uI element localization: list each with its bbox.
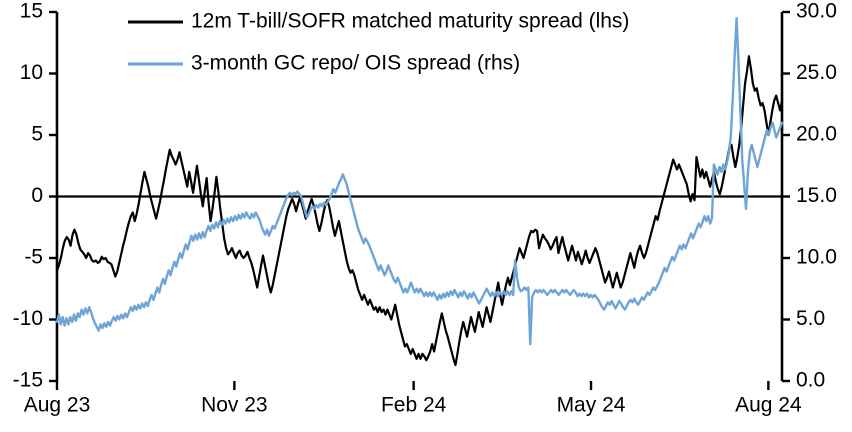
right-tick-label: 15.0 <box>796 184 837 207</box>
series-line-1 <box>57 56 782 365</box>
right-tick-label: 10.0 <box>796 246 837 269</box>
left-tick-label: -10 <box>13 307 43 330</box>
right-tick-label: 20.0 <box>796 123 837 146</box>
left-tick-label: -5 <box>24 246 43 269</box>
left-tick-label: -15 <box>13 369 43 392</box>
x-tick-label: Aug 24 <box>735 393 802 416</box>
left-tick-label: 0 <box>31 184 43 207</box>
right-tick-label: 30.0 <box>796 0 837 23</box>
right-tick-label: 5.0 <box>796 307 825 330</box>
x-tick-label: Nov 23 <box>201 393 268 416</box>
left-tick-label: 5 <box>31 123 43 146</box>
legend-label-2: 3-month GC repo/ OIS spread (rhs) <box>191 52 520 75</box>
x-tick-label: Feb 24 <box>381 393 447 416</box>
x-tick-label: May 24 <box>557 393 626 416</box>
legend-label-1: 12m T-bill/SOFR matched maturity spread … <box>191 10 629 33</box>
right-tick-label: 0.0 <box>796 369 825 392</box>
left-tick-label: 15 <box>20 0 43 23</box>
x-tick-label: Aug 23 <box>24 393 91 416</box>
left-tick-label: 10 <box>20 61 43 84</box>
chart-container: 151050-5-10-1530.025.020.015.010.05.00.0… <box>0 0 852 432</box>
line-chart: 151050-5-10-1530.025.020.015.010.05.00.0… <box>0 0 852 432</box>
right-tick-label: 25.0 <box>796 61 837 84</box>
